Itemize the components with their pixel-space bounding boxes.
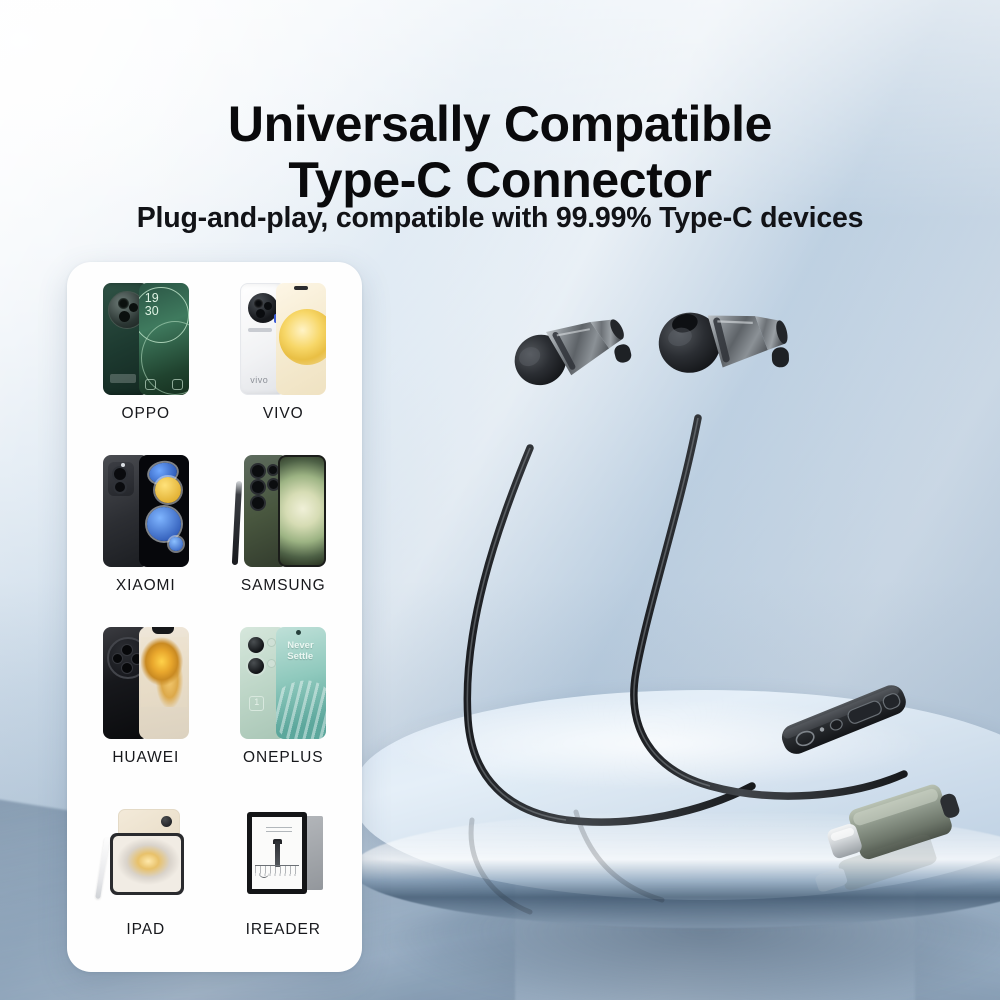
device-label: VIVO — [263, 405, 304, 423]
device-label: XIAOMI — [116, 577, 176, 595]
device-item-samsung[interactable]: SAMSUNG — [215, 448, 353, 620]
device-label: HUAWEI — [112, 749, 179, 767]
device-item-oppo[interactable]: 1930 OPPO — [77, 276, 215, 448]
right-cable — [634, 418, 904, 796]
cable-reflection — [471, 812, 662, 912]
product-image-earphones — [380, 300, 1000, 940]
left-cable — [467, 448, 752, 822]
device-label: ONEPLUS — [243, 749, 323, 767]
oppo-phone-icon: 1930 — [103, 280, 189, 398]
vivo-phone-icon: vivo — [240, 280, 326, 398]
ipad-tablet-icon — [96, 796, 196, 914]
device-item-xiaomi[interactable]: XIAOMI — [77, 448, 215, 620]
inline-remote-control — [778, 681, 910, 758]
device-label: SAMSUNG — [241, 577, 326, 595]
product-banner: Universally Compatible Type-C Connector … — [0, 0, 1000, 1000]
right-earbud — [652, 300, 795, 396]
ireader-ereader-icon — [237, 796, 329, 914]
left-earbud — [506, 300, 638, 411]
xiaomi-phone-icon — [103, 452, 189, 570]
device-label: IPAD — [126, 921, 165, 939]
oneplus-phone-icon: 1 NeverSettle — [240, 624, 326, 742]
device-label: IREADER — [246, 921, 321, 939]
compatibility-card: 1930 OPPO vivo — [67, 262, 362, 972]
page-subtitle: Plug-and-play, compatible with 99.99% Ty… — [0, 202, 1000, 235]
device-item-ireader[interactable]: IREADER — [215, 792, 353, 964]
device-item-oneplus[interactable]: 1 NeverSettle ONEPLUS — [215, 620, 353, 792]
samsung-phone-icon — [240, 452, 326, 570]
device-item-vivo[interactable]: vivo VIVO — [215, 276, 353, 448]
device-label: OPPO — [122, 405, 170, 423]
headline-line-2: Type-C Connector — [0, 152, 1000, 209]
huawei-phone-icon — [103, 624, 189, 742]
page-title: Universally Compatible Type-C Connector — [0, 96, 1000, 209]
headline-line-1: Universally Compatible — [228, 96, 772, 152]
device-item-huawei[interactable]: HUAWEI — [77, 620, 215, 792]
device-item-ipad[interactable]: IPAD — [77, 792, 215, 964]
device-grid: 1930 OPPO vivo — [67, 262, 362, 972]
